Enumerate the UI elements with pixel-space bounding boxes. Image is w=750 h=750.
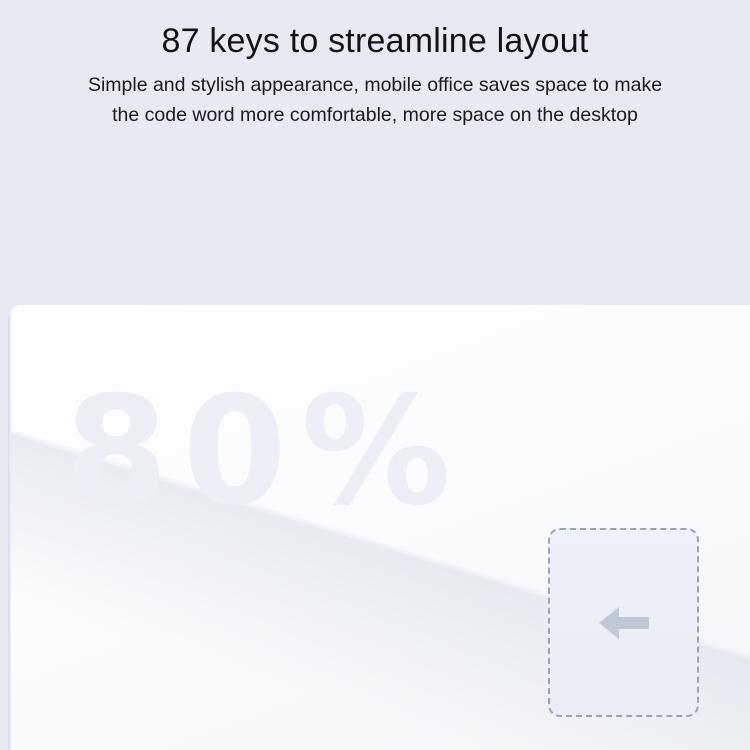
panel-left-edge (8, 305, 11, 750)
subtitle-line-2: the code word more comfortable, more spa… (11, 101, 739, 129)
scene-panel: 80% EscF1F2F3F4F5F6F7F8F9F10F11F12PrintS… (8, 305, 750, 750)
header-block: 87 keys to streamline layout Simple and … (0, 0, 750, 130)
watermark-80-percent: 80% (64, 377, 465, 527)
page-title: 87 keys to streamline layout (0, 22, 750, 61)
saved-space-dashed-box (548, 528, 699, 717)
subtitle-line-1: Simple and stylish appearance, mobile of… (11, 71, 739, 99)
left-arrow-icon (595, 601, 653, 645)
product-marketing-image: 87 keys to streamline layout Simple and … (0, 0, 750, 750)
